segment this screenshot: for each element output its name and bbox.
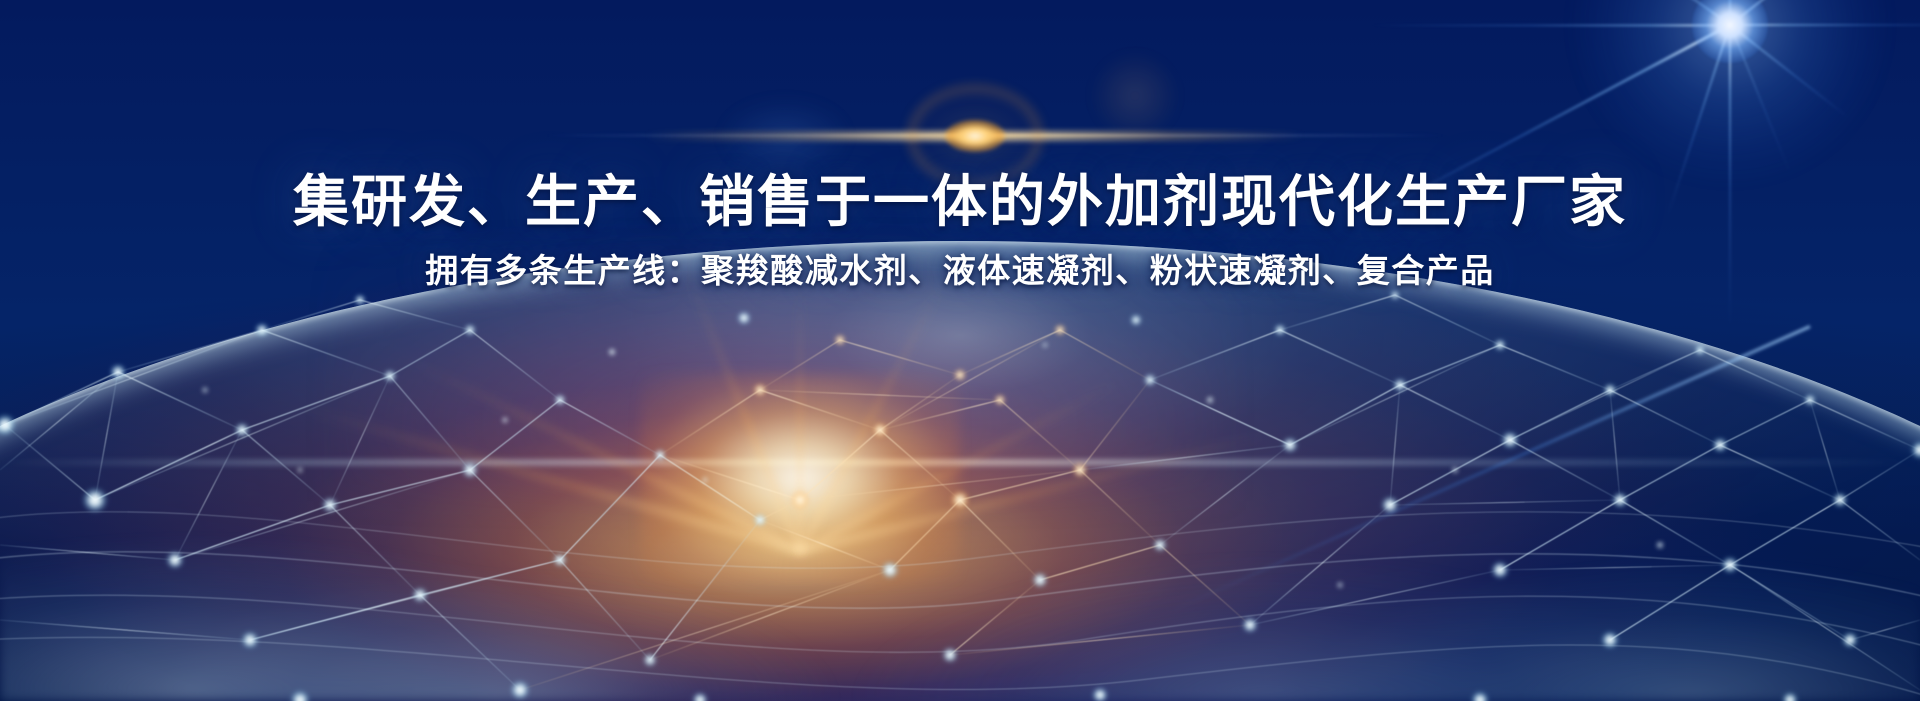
network-mesh — [0, 0, 1920, 701]
hero-banner: 集研发、生产、销售于一体的外加剂现代化生产厂家 拥有多条生产线：聚羧酸减水剂、液… — [0, 0, 1920, 701]
